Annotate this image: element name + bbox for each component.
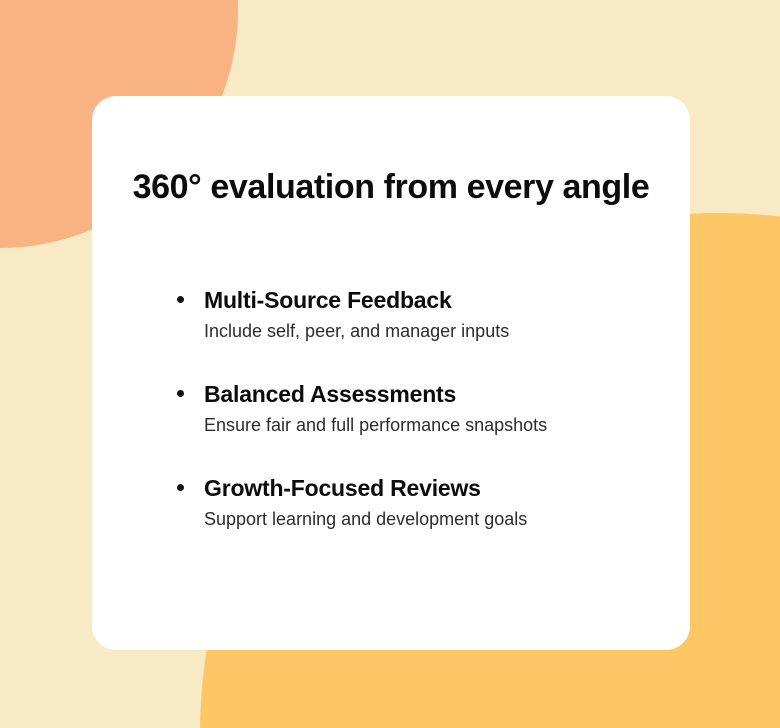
feature-title: Growth-Focused Reviews: [204, 474, 650, 503]
bullet-dot-icon: [177, 390, 184, 397]
feature-description: Support learning and development goals: [204, 507, 650, 532]
page-title: 360° evaluation from every angle: [92, 166, 690, 208]
list-item: Growth-Focused Reviews Support learning …: [177, 474, 650, 532]
feature-description: Include self, peer, and manager inputs: [204, 319, 650, 344]
feature-list: Multi-Source Feedback Include self, peer…: [177, 286, 650, 532]
bullet-dot-icon: [177, 296, 184, 303]
feature-description: Ensure fair and full performance snapsho…: [204, 413, 650, 438]
feature-title: Balanced Assessments: [204, 380, 650, 409]
list-item: Balanced Assessments Ensure fair and ful…: [177, 380, 650, 438]
bullet-dot-icon: [177, 484, 184, 491]
list-item: Multi-Source Feedback Include self, peer…: [177, 286, 650, 344]
slide-canvas: 360° evaluation from every angle Multi-S…: [0, 0, 780, 728]
feature-title: Multi-Source Feedback: [204, 286, 650, 315]
content-card: 360° evaluation from every angle Multi-S…: [92, 96, 690, 650]
